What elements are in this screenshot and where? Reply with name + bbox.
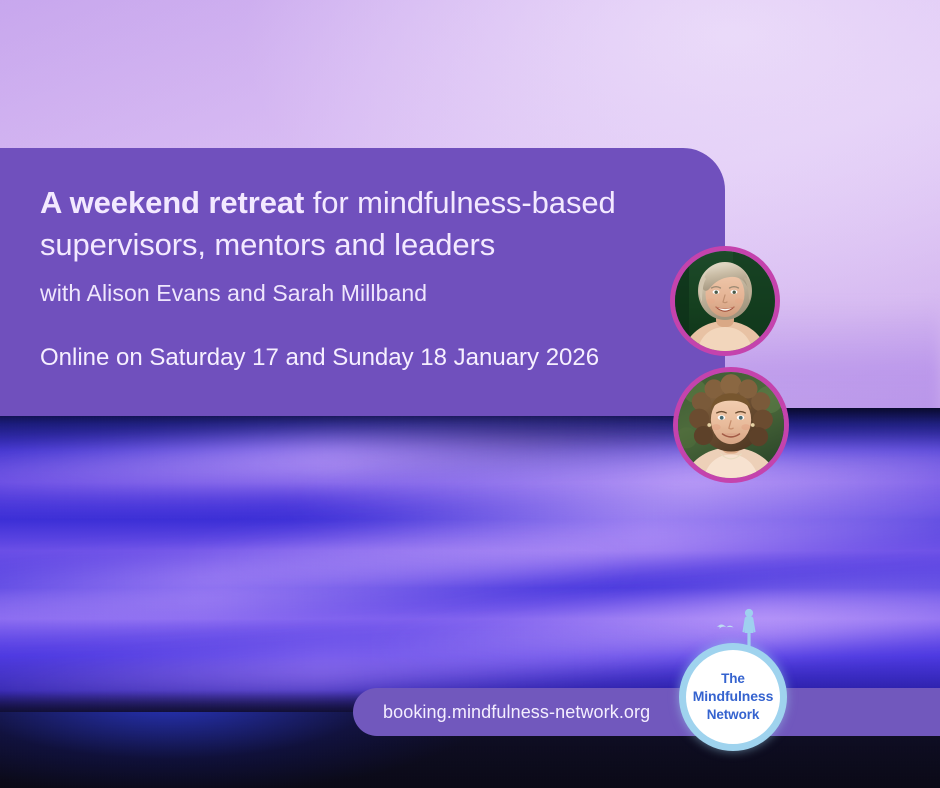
water-gradient [0,408,940,718]
page-title: A weekend retreat for mindfulness-based … [40,182,665,267]
logo-line-2: Mindfulness [693,688,774,705]
booking-url-pill[interactable]: booking.mindfulness-network.org [353,688,940,736]
date-line: Online on Saturday 17 and Sunday 18 Janu… [40,344,665,373]
water-wave-1 [0,419,781,500]
mindfulness-network-logo[interactable]: The Mindfulness Network [679,643,787,751]
logo-text: The Mindfulness Network [679,643,787,751]
water-wave-2 [299,432,940,525]
presenters-line: with Alison Evans and Sarah Millband [40,280,665,308]
water-wave-4 [0,535,621,639]
avatar-alison-evans: Portrait of a smiling woman with short l… [670,246,780,356]
headline-strong: A weekend retreat [40,185,304,220]
logo-line-3: Network [707,707,760,723]
logo-line-1: The [721,671,745,687]
water-wave-3 [199,469,940,592]
headline-panel: A weekend retreat for mindfulness-based … [0,148,725,416]
water-wave-5 [379,560,940,677]
promo-poster: A weekend retreat for mindfulness-based … [0,0,940,788]
booking-url-text: booking.mindfulness-network.org [383,702,650,723]
avatar-sarah-millband: Portrait of a smiling woman with curly s… [673,367,789,483]
